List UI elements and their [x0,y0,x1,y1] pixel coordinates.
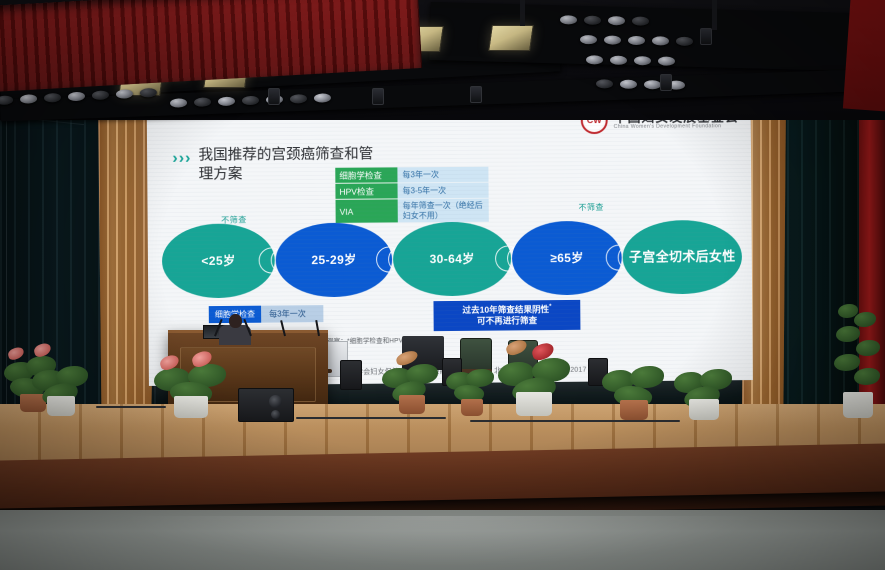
plant-pot [843,392,873,418]
bottom-right-line1: 过去10年筛查结果阴性 [462,304,549,315]
spotlight-lens-icon [658,56,675,65]
table-row: 细胞学检查 每3年一次 [335,167,488,184]
table-cell-method: 细胞学检查 [335,167,397,183]
spotlight-lens-icon [620,80,637,89]
spotlight-lens-icon [608,16,625,25]
spotlight-lens-icon [242,96,259,106]
stage-cable [470,420,680,422]
hanging-spotlight [700,28,712,45]
age-group-ellipse-5: 子宫全切术后女性 [622,220,742,295]
presenter-head [229,314,242,328]
spotlight-lens-icon [644,80,661,89]
spotlight-lens-icon [0,95,13,105]
potted-plant [668,356,740,420]
hanging-spotlight [268,88,280,105]
potted-plant [378,348,446,414]
hanging-spotlight [372,88,384,105]
spotlight-lens-icon [580,35,597,44]
plant-leaf [630,366,664,388]
potted-plant-tall [828,296,885,418]
spotlight-lens-icon [20,94,37,104]
spotlight-lens-icon [610,56,627,65]
table-row: HPV检查 每3-5年一次 [335,183,488,200]
spotlight-lens-icon [44,93,61,103]
table-row: VIA 每年筛查一次（绝经后妇女不用） [336,199,489,223]
chevron-right-icon: › [172,151,177,167]
table-cell-method: VIA [336,199,398,222]
spotlight-lens-icon [116,89,133,99]
no-screening-label-right: 不筛查 [578,202,603,213]
plant-bloom [7,346,26,361]
spotlight-lens-icon [170,98,187,108]
spotlight-lens-icon [584,16,601,25]
spotlight-lens-icon [634,56,651,65]
table-cell-interval: 每3年一次 [397,167,488,184]
screening-schedule-table: 细胞学检查 每3年一次 HPV检查 每3-5年一次 VIA 每年筛查一次（绝经后… [335,167,489,223]
spotlight-lens-icon [604,35,621,44]
spotlight-lens-icon [68,92,85,102]
spotlight-lens-icon [560,15,577,24]
spotlight-lens-icon [596,79,613,88]
potted-plant [596,350,672,420]
plant-leaf [856,340,880,356]
potted-plant [492,338,576,416]
stage-ceiling-rig [0,0,885,120]
plant-bloom [505,338,529,357]
plant-leaf [836,326,860,342]
bottom-right-marker: * [549,304,551,310]
age-group-ellipse-2: 25-29岁 [275,222,392,297]
age-group-ellipse-band: <25岁 25-29岁 30-64岁 ≥65岁 子宫全切术后女性 [162,220,742,299]
table-cell-interval: 每年筛查一次（绝经后妇女不用） [398,199,489,223]
spotlight-lens-icon [218,97,235,107]
plant-pot [399,395,425,414]
speaker-cone-icon [271,410,280,419]
age-group-ellipse-3: 30-64岁 [393,222,512,297]
bottom-left-recommendation-box: 细胞学检查 每3年一次 [209,305,324,323]
hanging-spotlight [660,74,672,91]
table-cell-method: HPV检查 [335,183,397,199]
spotlight-lens-icon [194,97,211,107]
red-curtain-valance-right [843,0,885,111]
chevron-right-icon: › [185,151,190,167]
bottom-right-recommendation-box: 过去10年筛查结果阴性* 可不再进行筛查 [433,300,580,331]
rigging-pipe [712,0,717,30]
rigging-pipe [520,0,525,26]
plant-leaf [854,368,880,385]
logo-name-en: China Women's Development Foundation [614,124,739,130]
floor-monitor-speaker [238,388,294,422]
spotlight-row [560,15,649,26]
plant-pot [516,392,552,416]
plant-leaf [854,312,876,327]
spotlight-lens-icon [290,94,307,104]
spotlight-row [586,55,675,66]
plant-pot [620,400,648,420]
stage-cable [296,417,446,419]
chevron-right-icon: › [179,151,184,167]
floor-monitor-speaker [340,360,362,390]
spotlight-lens-icon [676,37,693,46]
potted-plant [26,352,96,416]
spotlight-lens-icon [628,36,645,45]
bottom-right-line2: 可不再进行筛查 [477,316,537,327]
spotlight-lens-icon [92,90,109,100]
spotlight-lens-icon [140,88,157,98]
floor-reflection [120,516,760,566]
plant-pot [47,396,75,416]
spotlight-lens-icon [586,55,603,64]
table-cell-interval: 每3-5年一次 [398,183,489,200]
plant-pot [689,399,719,420]
spotlight-lens-icon [314,93,331,103]
hanging-spotlight [470,86,482,103]
stage-light-fixture [488,25,534,51]
spotlight-lens-icon [632,16,649,25]
plant-leaf [834,354,860,371]
potted-plant [148,350,234,418]
chevron-right-icon-group: › › › [172,151,190,167]
plant-pot [174,396,208,418]
spotlight-lens-icon [652,36,669,45]
plant-pot [461,399,483,416]
stage-photo-scene: CW 中国妇女发展基金会 China Women's Development F… [0,0,885,570]
speaker-cone-icon [269,395,282,408]
